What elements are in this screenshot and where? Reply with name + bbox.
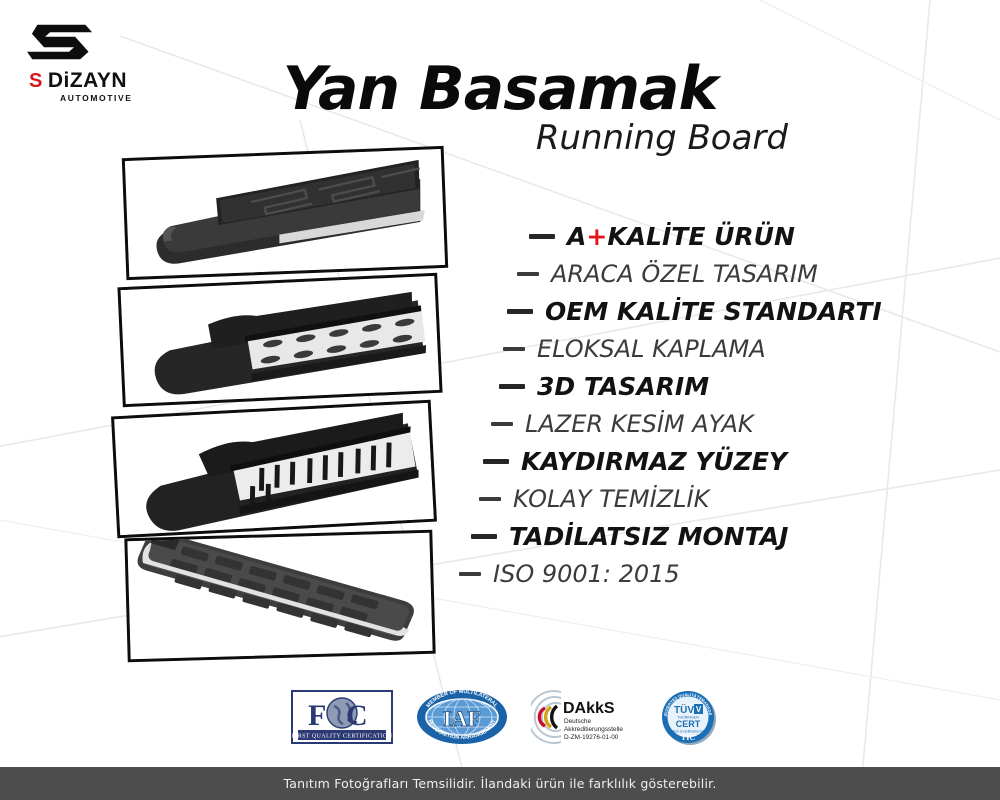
feature-item: KAYDIRMAZ YÜZEY [483,447,925,476]
feature-label: TADİLATSIZ MONTAJ [509,522,788,551]
tuv-cert: CERT [676,719,701,729]
feature-text-pre: A [567,222,586,251]
fqc-badge: F C Q FIRST QUALITY CERTIFICATION [290,686,394,748]
feature-list: A+KALİTE ÜRÜN ARACA ÖZEL TASARIM OEM KAL… [455,222,925,588]
feature-item: A+KALİTE ÜRÜN [529,222,925,251]
bullet-dash-icon [491,422,513,426]
svg-text:V: V [696,705,702,714]
feature-label: 3D TASARIM [537,372,709,401]
gallery-item-running-board-rubber-tread[interactable] [124,530,435,663]
gallery-item-running-board-aluminium-slots[interactable] [111,400,437,539]
poster-root: S DiZAYN AUTOMOTIVE Yan Basamak Running … [0,0,1000,800]
iaf-title: IAF [443,706,481,731]
footer-disclaimer-text: Tanıtım Fotoğrafları Temsilidir. İlandak… [283,776,716,791]
feature-item: TADİLATSIZ MONTAJ [471,522,925,551]
feature-label: KOLAY TEMİZLİK [513,485,709,513]
bullet-dash-icon [499,384,525,389]
bullet-dash-icon [471,534,497,539]
page-subtitle: Running Board [536,118,788,158]
feature-item: ELOKSAL KAPLAMA [503,335,925,363]
feature-label: KAYDIRMAZ YÜZEY [521,447,787,476]
tuv-bottom: TIC [681,733,695,742]
gallery-item-running-board-aluminium-oval-studs[interactable] [117,273,442,407]
bullet-dash-icon [483,459,509,464]
bullet-dash-icon [517,272,539,276]
feature-text-post: KALİTE ÜRÜN [607,222,795,251]
product-gallery [118,152,458,670]
certification-badges: F C Q FIRST QUALITY CERTIFICATION [290,684,720,750]
feature-item: 3D TASARIM [499,372,925,401]
feature-label: OEM KALİTE STANDARTI [545,297,882,326]
feature-label: A+KALİTE ÜRÜN [567,222,795,251]
dakks-badge: DAkkS Deutsche Akkreditierungsstelle D-Z… [531,686,637,748]
feature-label: ISO 9001: 2015 [493,560,680,588]
tuv-title: TÜV [674,703,694,716]
page-title: Yan Basamak [0,54,1000,124]
dakks-line3: D-ZM-19276-01-00 [564,734,619,741]
svg-text:F: F [308,699,326,732]
feature-item: OEM KALİTE STANDARTI [507,297,925,326]
plus-accent: + [586,222,607,251]
bullet-dash-icon [479,497,501,501]
feature-item: LAZER KESİM AYAK [491,410,925,438]
bullet-dash-icon [503,347,525,351]
tuv-badge: ZERTIFIZIERTES QUALITÄTSMANAGEMENT TÜV V… [658,686,720,748]
dakks-title: DAkkS [563,700,615,717]
dakks-line1: Deutsche [564,718,591,725]
iaf-badge: IAF MEMBER OF MULTILATERAL RECOGNITION A… [415,686,509,748]
feature-item: ISO 9001: 2015 [459,560,925,588]
dakks-line2: Akkreditierungsstelle [564,726,623,733]
gallery-item-running-board-textured-black-top[interactable] [122,146,448,280]
bullet-dash-icon [507,309,533,314]
bullet-dash-icon [459,572,481,576]
feature-label: ELOKSAL KAPLAMA [537,335,766,363]
feature-label: LAZER KESİM AYAK [525,410,754,438]
feature-item: ARACA ÖZEL TASARIM [517,260,925,288]
fqc-subtitle: FIRST QUALITY CERTIFICATION [292,734,393,740]
footer-disclaimer-bar: Tanıtım Fotoğrafları Temsilidir. İlandak… [0,767,1000,800]
feature-item: KOLAY TEMİZLİK [479,485,925,513]
bullet-dash-icon [529,234,555,239]
feature-label: ARACA ÖZEL TASARIM [551,260,818,288]
